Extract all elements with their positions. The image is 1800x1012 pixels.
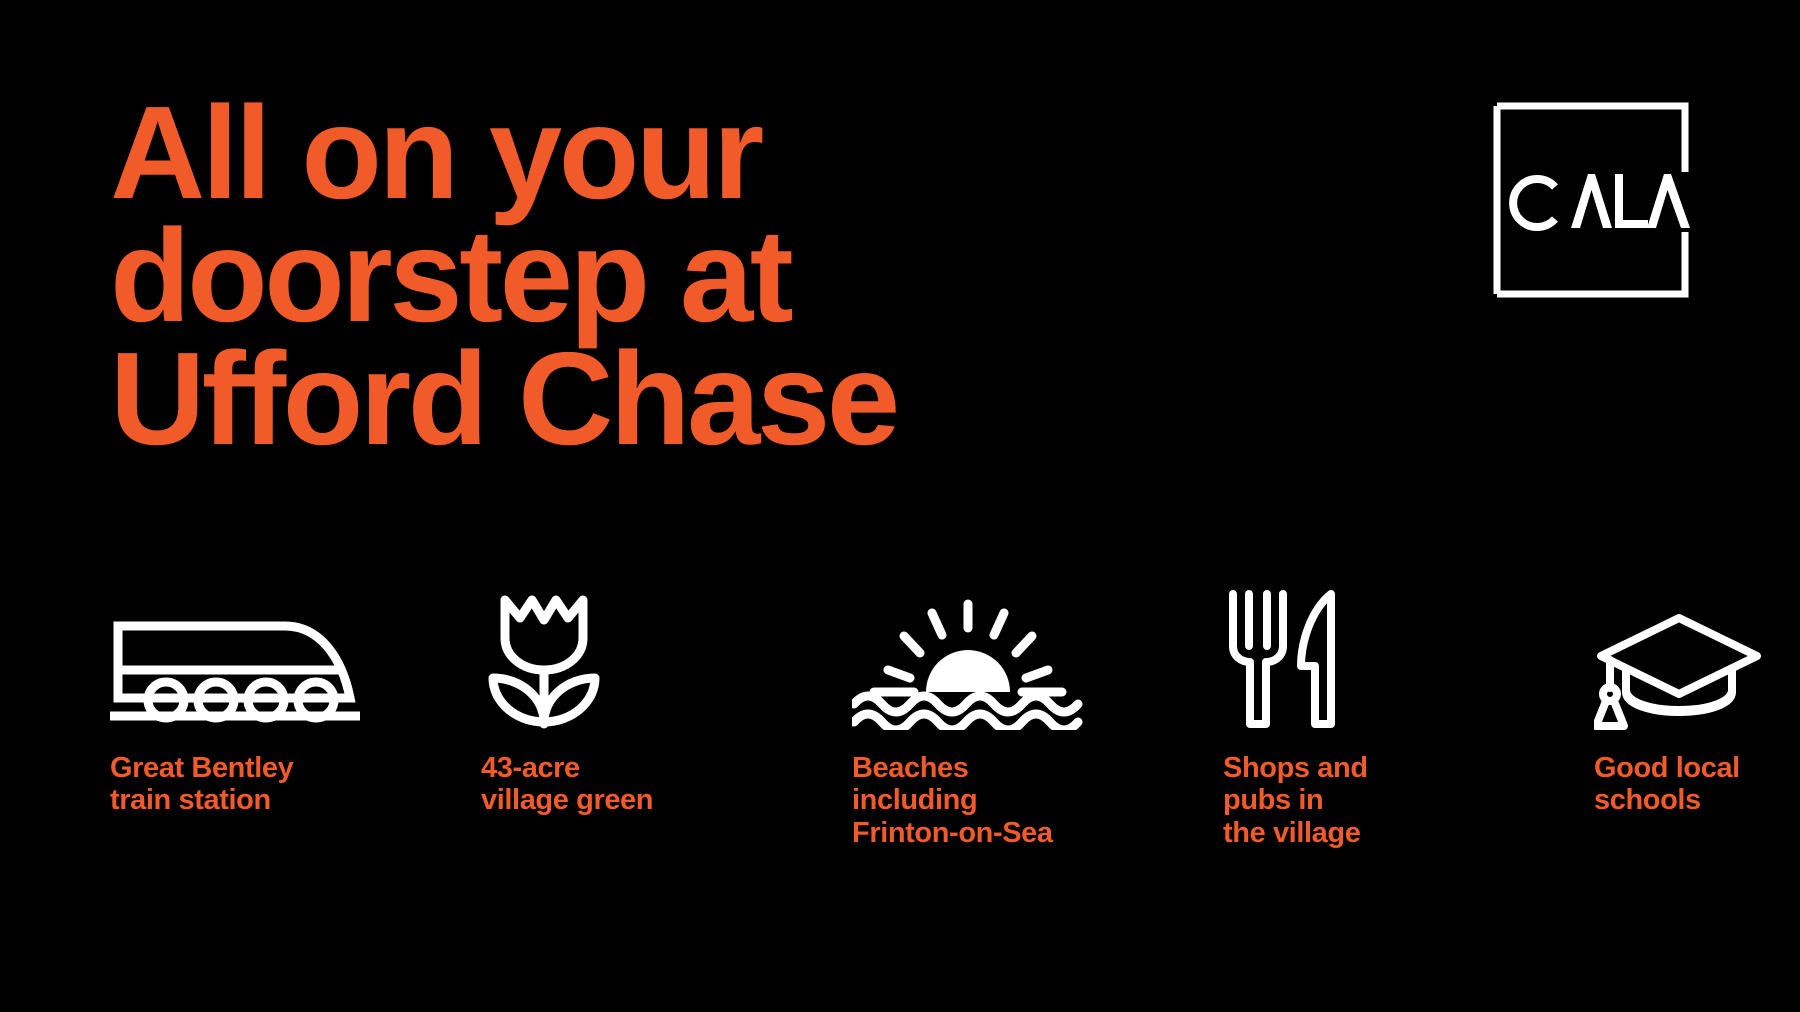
- graduation-cap-icon: [1594, 590, 1764, 730]
- sunrise-over-waves-icon: [852, 590, 1084, 730]
- feature-item-shops-pubs: Shops and pubs in the village: [1223, 590, 1594, 849]
- cala-logo: [1491, 100, 1691, 300]
- feature-label: Shops and pubs in the village: [1223, 752, 1368, 849]
- promo-banner: All on your doorstep at Ufford Chase: [0, 0, 1800, 1012]
- tulip-flower-icon: [481, 590, 607, 730]
- feature-label: Beaches including Frinton-on-Sea: [852, 752, 1053, 849]
- feature-item-beaches: Beaches including Frinton-on-Sea: [852, 590, 1223, 849]
- feature-item-village-green: 43-acre village green: [481, 590, 852, 817]
- feature-list: Great Bentley train station: [110, 590, 1720, 849]
- train-icon: [110, 590, 360, 730]
- feature-label: Great Bentley train station: [110, 752, 293, 817]
- feature-item-train-station: Great Bentley train station: [110, 590, 481, 817]
- feature-label: 43-acre village green: [481, 752, 653, 817]
- fork-and-knife-icon: [1223, 590, 1341, 730]
- feature-item-schools: Good local schools: [1594, 590, 1800, 817]
- feature-label: Good local schools: [1594, 752, 1740, 817]
- page-title: All on your doorstep at Ufford Chase: [110, 92, 1210, 460]
